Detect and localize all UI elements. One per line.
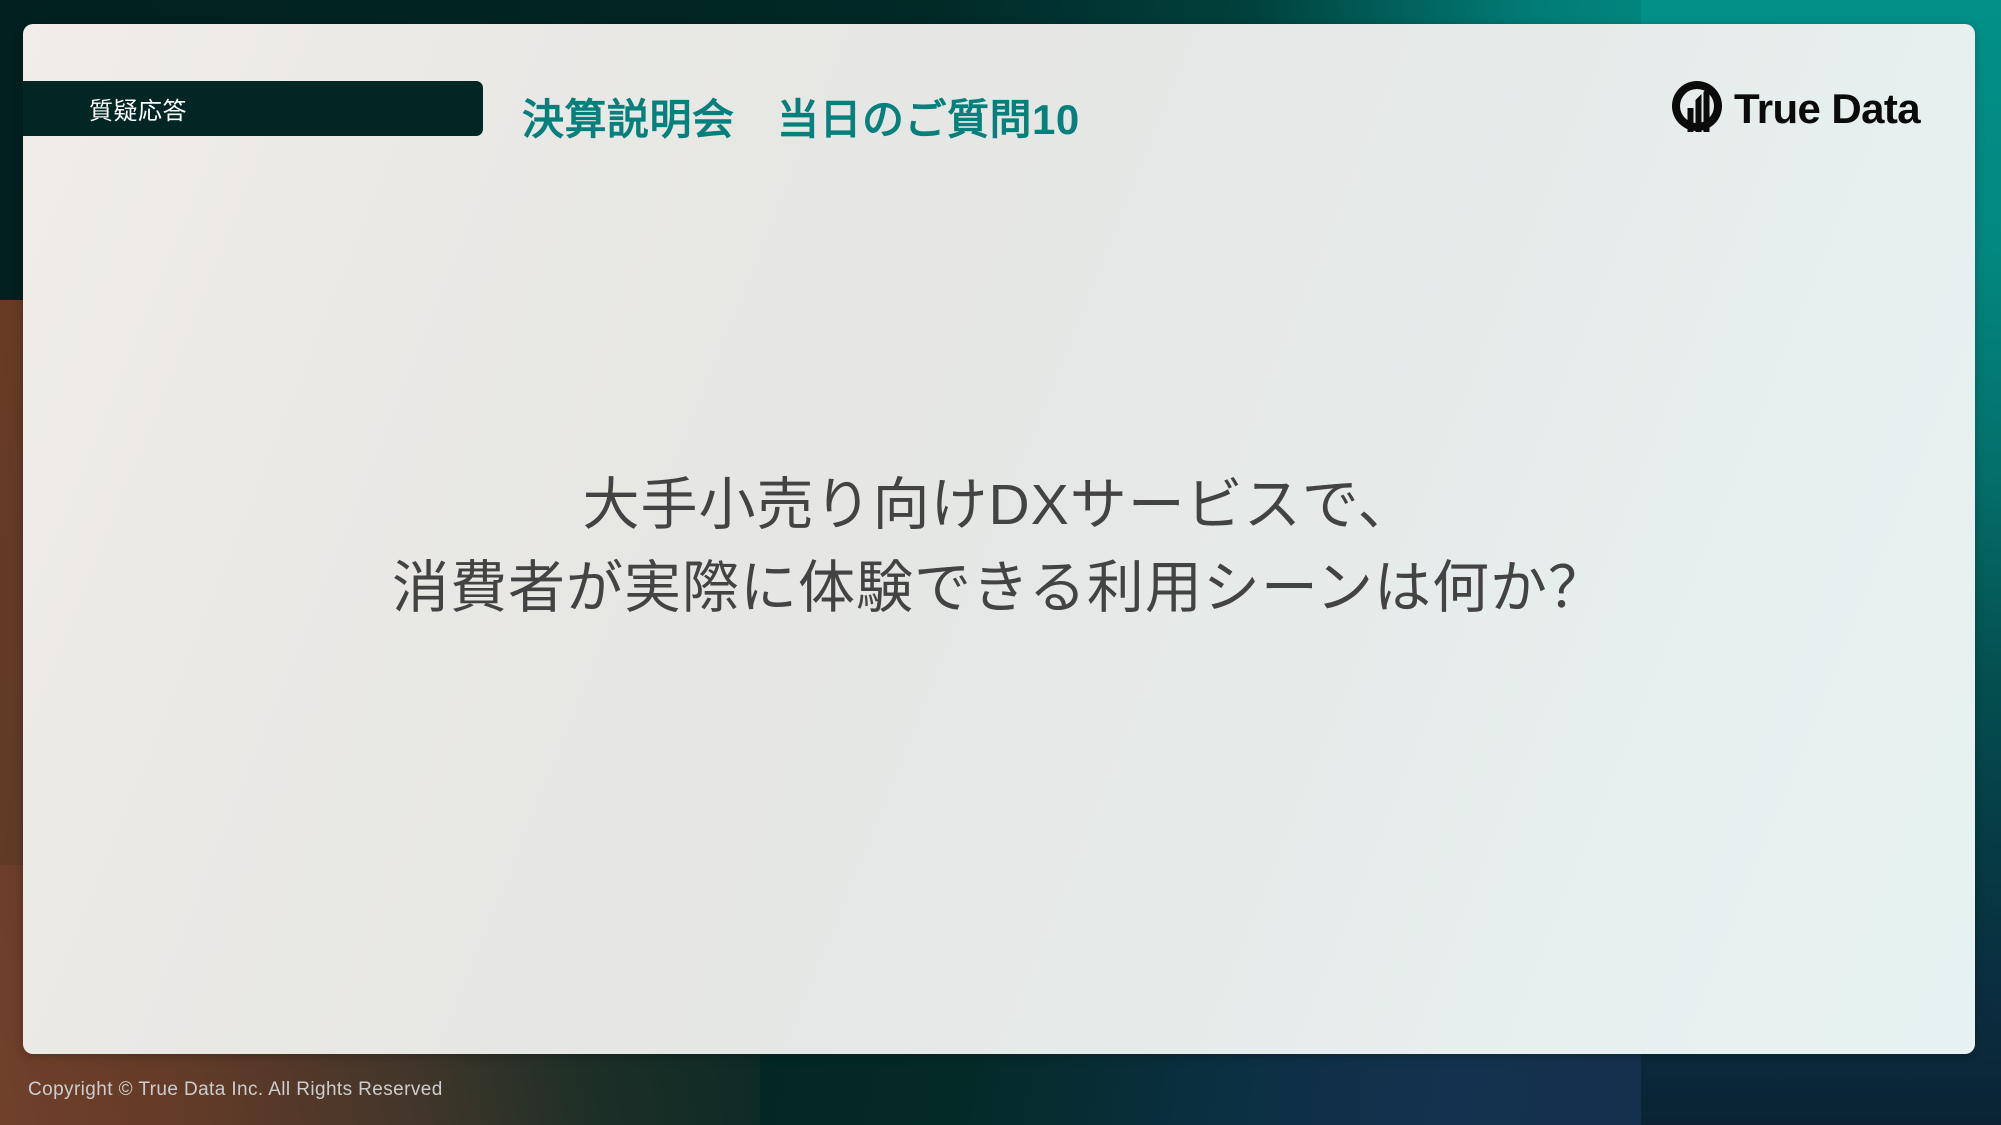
question-text: 大手小売り向けDXサービスで、 消費者が実際に体験できる利用シーンは何か？ — [23, 464, 1975, 630]
slide-card: 質疑応答 決算説明会 当日のご質問10 True Data 大手小売り向けDXサ… — [23, 24, 1975, 1054]
question-line-2: 消費者が実際に体験できる利用シーンは何か？ — [23, 547, 1975, 630]
bar-chart-circle-icon — [1669, 78, 1725, 139]
question-line-1: 大手小売り向けDXサービスで、 — [23, 464, 1975, 547]
slide-stage: 質疑応答 決算説明会 当日のご質問10 True Data 大手小売り向けDXサ… — [0, 0, 2001, 1125]
page-title: 決算説明会 当日のご質問10 — [522, 86, 1080, 147]
copyright-footer: Copyright © True Data Inc. All Rights Re… — [28, 1079, 443, 1101]
brand-logo: True Data — [1669, 78, 1920, 139]
section-badge-label: 質疑応答 — [89, 91, 187, 126]
section-badge: 質疑応答 — [23, 81, 483, 136]
brand-wordmark: True Data — [1734, 88, 1920, 130]
slide-header: 質疑応答 決算説明会 当日のご質問10 True Data — [23, 24, 1975, 164]
